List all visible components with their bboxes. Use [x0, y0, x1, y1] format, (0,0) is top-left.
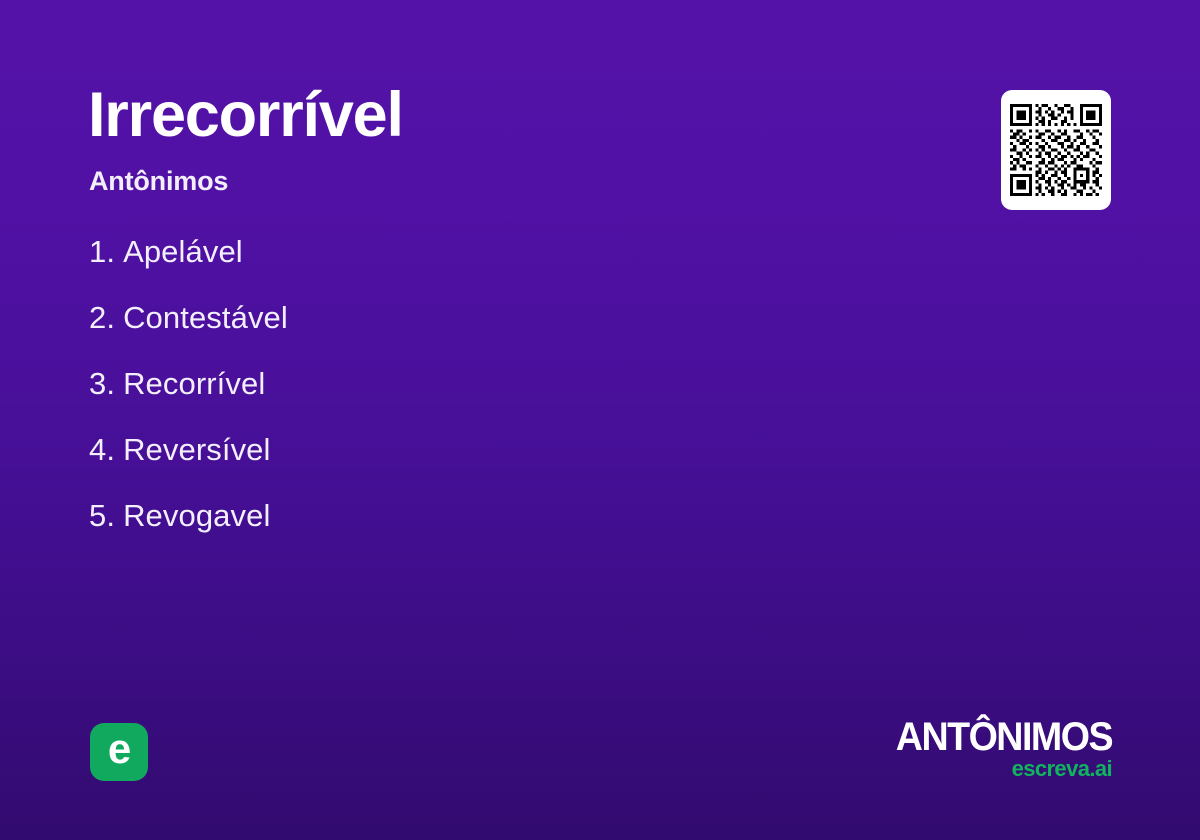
brand-domain: escreva.ai — [882, 758, 1112, 780]
list-item-index: 4. — [89, 432, 115, 467]
brand-name: ANTÔNIMOS — [896, 718, 1112, 756]
antonyms-card: Irrecorrível Antônimos 1.Apelável 2.Cont… — [0, 0, 1200, 840]
list-item-label: Recorrível — [123, 366, 265, 401]
list-item-index: 5. — [89, 498, 115, 533]
list-item-label: Apelável — [123, 234, 243, 269]
list-item-index: 1. — [89, 234, 115, 269]
qr-code[interactable] — [1001, 90, 1111, 210]
page-title: Irrecorrível — [88, 84, 403, 147]
antonyms-list: 1.Apelável 2.Contestável 3.Recorrível 4.… — [89, 236, 288, 566]
qr-code-icon — [1010, 104, 1102, 196]
page-subtitle: Antônimos — [89, 168, 228, 195]
list-item-label: Revogavel — [123, 498, 270, 533]
list-item-label: Contestável — [123, 300, 288, 335]
list-item: 5.Revogavel — [89, 500, 288, 566]
brand-lockup: ANTÔNIMOS escreva.ai — [882, 718, 1112, 780]
logo-letter: e — [108, 728, 130, 770]
list-item-index: 2. — [89, 300, 115, 335]
list-item: 2.Contestável — [89, 302, 288, 368]
list-item: 1.Apelável — [89, 236, 288, 302]
list-item: 3.Recorrível — [89, 368, 288, 434]
list-item-index: 3. — [89, 366, 115, 401]
list-item-label: Reversível — [123, 432, 270, 467]
list-item: 4.Reversível — [89, 434, 288, 500]
escreva-logo-icon[interactable]: e — [90, 723, 148, 781]
